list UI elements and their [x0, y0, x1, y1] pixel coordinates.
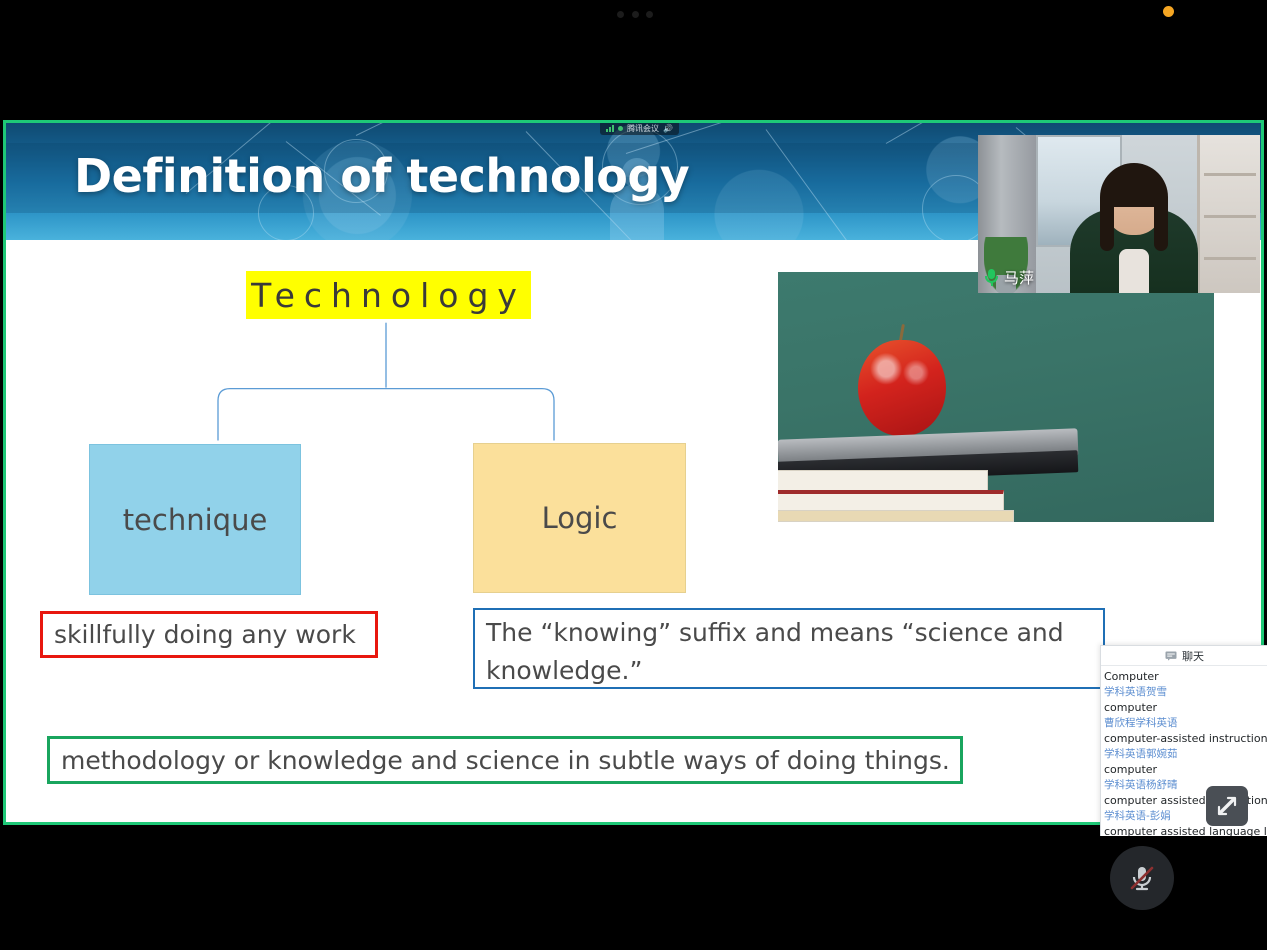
- participant-name-badge: 马萍: [984, 267, 1034, 288]
- status-indicator-dot: [1163, 6, 1174, 17]
- chat-message: computer: [1104, 700, 1267, 716]
- apple-shape: [858, 340, 946, 436]
- chat-message: computer-assisted instruction: [1104, 731, 1267, 747]
- microphone-muted-icon: [1125, 861, 1159, 895]
- book-stack: [778, 454, 1074, 522]
- callout-blue-line2: knowledge.”: [486, 652, 1103, 690]
- top-bar-dot: [632, 11, 639, 18]
- top-bar-handle[interactable]: [617, 8, 653, 20]
- microphone-on-icon: [984, 269, 999, 286]
- chat-message: computer: [1104, 762, 1267, 778]
- participant-hair-right: [1154, 193, 1168, 251]
- pen-resize-icon: [1215, 794, 1239, 818]
- chat-sender: 曹欣程学科英语: [1104, 716, 1267, 732]
- branch-box-technique: technique: [89, 444, 301, 595]
- mute-microphone-button[interactable]: [1110, 846, 1174, 910]
- participant-name: 马萍: [1004, 267, 1034, 288]
- top-bar-dot: [646, 11, 653, 18]
- meeting-screen: 腾讯会议 🔊 Definition o: [0, 0, 1267, 950]
- callout-blue-logic-definition: The “knowing” suffix and means “science …: [473, 608, 1105, 689]
- annotation-handle[interactable]: [1206, 786, 1248, 826]
- chat-sender: 学科英语贺雪: [1104, 685, 1267, 701]
- app-name-label: 腾讯会议: [627, 123, 659, 134]
- speaker-icon: 🔊: [663, 124, 673, 133]
- slide-photo-apple-laptop-books: [778, 272, 1214, 522]
- background-shelf: [1197, 135, 1260, 293]
- participant-shirt: [1119, 249, 1149, 293]
- branch-label-technique: technique: [123, 503, 268, 537]
- top-bar-dot: [617, 11, 624, 18]
- callout-red-text: skillfully doing any work: [54, 620, 356, 649]
- participant-video-thumbnail[interactable]: 马萍: [978, 135, 1260, 293]
- callout-blue-line1: The “knowing” suffix and means “science …: [486, 614, 1103, 652]
- slide-title: Definition of technology: [74, 149, 689, 203]
- recording-dot-icon: [618, 126, 623, 131]
- participant-hair-left: [1100, 193, 1114, 251]
- callout-green-summary: methodology or knowledge and science in …: [47, 736, 963, 784]
- chat-panel-header: 聊天: [1101, 646, 1267, 666]
- signal-bars-icon: [606, 124, 614, 132]
- root-node-label: Technology: [251, 276, 526, 315]
- branch-label-logic: Logic: [542, 501, 618, 535]
- callout-red-technique-definition: skillfully doing any work: [40, 611, 378, 658]
- chat-bubble-icon: [1165, 651, 1177, 661]
- branch-box-logic: Logic: [473, 443, 686, 593]
- chat-message: Computer: [1104, 669, 1267, 685]
- chat-sender: 学科英语郭婉茹: [1104, 747, 1267, 763]
- sharing-status-indicator: 腾讯会议 🔊: [600, 121, 679, 135]
- chat-panel-title: 聊天: [1182, 648, 1204, 664]
- callout-green-text: methodology or knowledge and science in …: [61, 746, 950, 775]
- root-node-technology: Technology: [246, 271, 531, 319]
